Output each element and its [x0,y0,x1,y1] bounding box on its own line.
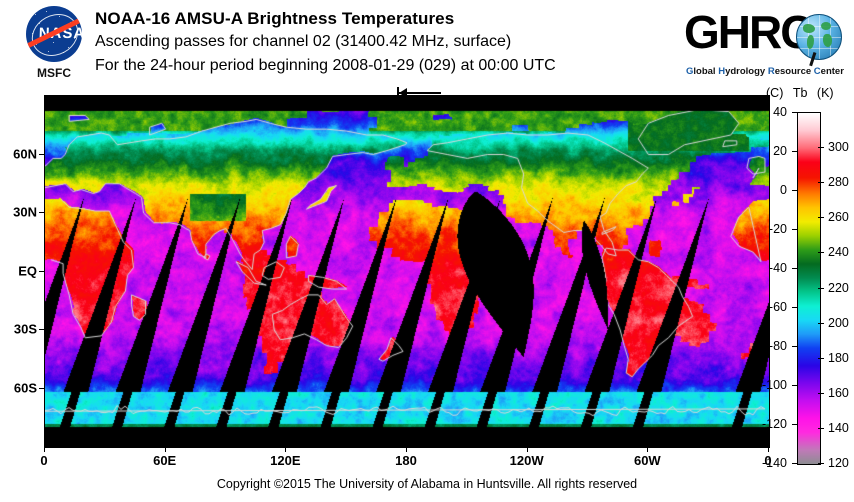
copyright-notice: Copyright ©2015 The University of Alabam… [0,477,854,491]
title-block: NOAA-16 AMSU-A Brightness Temperatures A… [95,8,695,78]
colorbar-celsius-label-6: -80 [769,339,787,353]
colorbar-kelvin-label-9: 120 [828,456,849,470]
nasa-logo: NASA MSFC [18,6,88,90]
colorbar-unit-kelvin: (K) [817,86,834,100]
ghrc-tag-lobal: lobal [693,66,718,77]
x-axis-label-4: 120W [510,453,544,468]
nasa-center-label: MSFC [18,66,90,80]
subtitle-period: For the 24-hour period beginning 2008-01… [95,54,695,78]
colorbar-kelvin-label-6: 180 [828,351,849,365]
colorbar-kelvin-label-8: 140 [828,421,849,435]
colorbar-celsius-label-1: 20 [773,144,787,158]
north-direction-arrow-icon [397,87,443,99]
colorbar-celsius-label-4: -40 [769,261,787,275]
colorbar-celsius-label-3: -20 [769,222,787,236]
x-axis-label-2: 120E [270,453,300,468]
colorbar-celsius-label-0: 40 [773,105,787,119]
ghrc-wordmark: GHRC [684,6,811,58]
map-plot-area[interactable] [44,95,770,448]
colorbar-header: (C) Tb (K) [766,86,846,100]
x-axis-label-5: 60W [634,453,661,468]
colorbar-kelvin-label-1: 280 [828,175,849,189]
colorbar-kelvin-label-2: 260 [828,210,849,224]
y-axis-label-3: 30S [0,322,37,337]
x-axis-label-1: 60E [153,453,176,468]
x-axis-label-6: 0 [764,453,771,468]
colorbar-kelvin-label-7: 160 [828,386,849,400]
x-axis-label-3: 180 [395,453,417,468]
colorbar-celsius-label-9: -140 [762,456,787,470]
ghrc-tag-r: R [768,66,775,77]
y-axis-label-4: 60S [0,380,37,395]
colorbar-celsius-label-5: -60 [769,300,787,314]
ghrc-logo: GHRC Global Hydrology Resource Center [684,6,844,86]
ghrc-tag-esource: esource [775,66,814,77]
colorbar-unit-celsius: (C) [766,86,783,100]
page-title: NOAA-16 AMSU-A Brightness Temperatures [95,8,695,30]
ghrc-tagline: Global Hydrology Resource Center [686,66,844,77]
colorbar-celsius-label-2: 0 [780,183,787,197]
colorbar-kelvin-label-4: 220 [828,281,849,295]
colorbar[interactable] [797,112,821,465]
colorbar-variable: Tb [793,86,808,100]
y-axis-label-1: 30N [0,205,37,220]
subtitle-channel: Ascending passes for channel 02 (31400.4… [95,30,695,54]
colorbar-kelvin-label-0: 300 [828,140,849,154]
y-axis-label-0: 60N [0,146,37,161]
y-axis-label-2: EQ [0,263,37,278]
nasa-meatball-icon: NASA [26,6,82,62]
brightness-temperature-map[interactable] [45,96,769,447]
ghrc-tag-c: C [814,66,821,77]
colorbar-kelvin-label-3: 240 [828,245,849,259]
colorbar-gradient [798,113,820,464]
ghrc-tag-enter: enter [821,66,844,77]
colorbar-kelvin-label-5: 200 [828,316,849,330]
x-axis-label-0: 0 [40,453,47,468]
ghrc-tag-ydrology: ydrology [725,66,768,77]
